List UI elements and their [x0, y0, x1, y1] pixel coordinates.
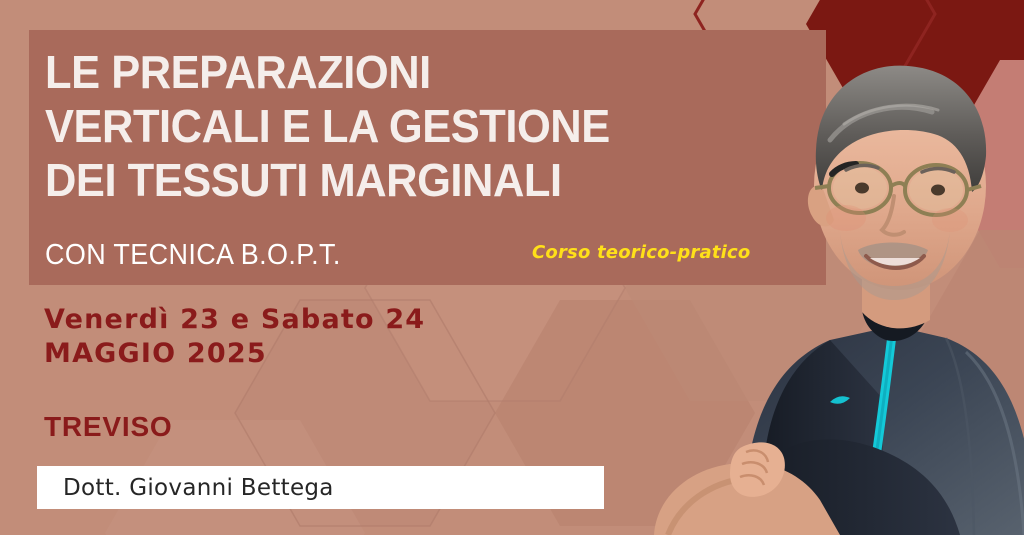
date-line-1: Venerdì 23 e Sabato 24	[44, 303, 425, 337]
title-line-2: VERTICALI E LA GESTIONE	[45, 99, 792, 153]
event-city: TREVISO	[44, 410, 173, 444]
subtitle-row: CON TECNICA B.O.P.T. Corso teorico-prati…	[45, 238, 825, 274]
speaker-name-bar: Dott. Giovanni Bettega	[37, 466, 604, 509]
course-type-kicker: Corso teorico-pratico	[532, 241, 750, 265]
course-promo-poster: LE PREPARAZIONI VERTICALI E LA GESTIONE …	[0, 0, 1024, 535]
title-line-3: DEI TESSUTI MARGINALI	[45, 153, 792, 207]
technique-subtitle: CON TECNICA B.O.P.T.	[45, 238, 341, 272]
page-title: LE PREPARAZIONI VERTICALI E LA GESTIONE …	[45, 45, 835, 207]
date-line-2: MAGGIO 2025	[44, 337, 425, 371]
speaker-name: Dott. Giovanni Bettega	[63, 473, 334, 503]
title-line-1: LE PREPARAZIONI	[45, 45, 792, 99]
event-dates: Venerdì 23 e Sabato 24 MAGGIO 2025	[44, 303, 425, 371]
